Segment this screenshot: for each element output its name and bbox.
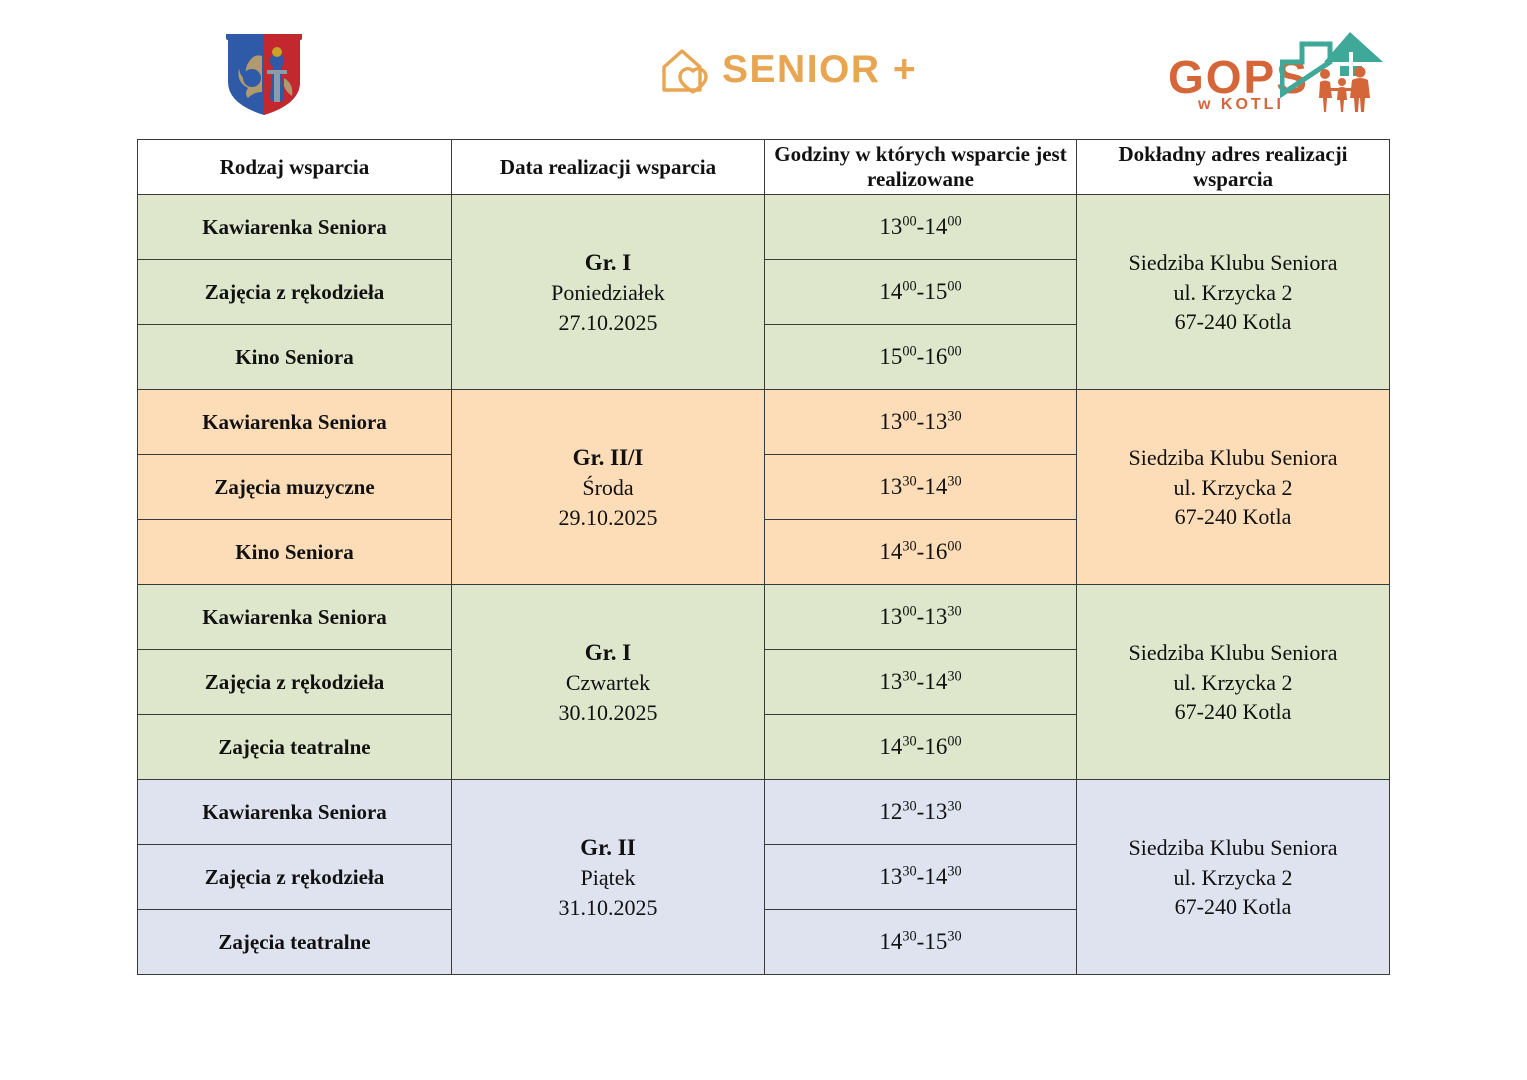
day-label: Środa	[452, 473, 764, 503]
activity-cell: Zajęcia teatralne	[138, 910, 452, 975]
hours-cell: 1330-1430	[765, 845, 1077, 910]
activity-cell: Kawiarenka Seniora	[138, 780, 452, 845]
hours-cell: 1430-1600	[765, 715, 1077, 780]
address-line-3: 67-240 Kotla	[1077, 892, 1389, 922]
senior-plus-label: SENIOR +	[722, 48, 917, 92]
table-row: Kawiarenka Seniora Gr. I Poniedziałek 27…	[138, 195, 1390, 260]
day-label: Piątek	[452, 863, 764, 893]
address-line-2: ul. Krzycka 2	[1077, 278, 1389, 308]
activity-cell: Kawiarenka Seniora	[138, 390, 452, 455]
table-row: Kawiarenka Seniora Gr. I Czwartek 30.10.…	[138, 585, 1390, 650]
column-header-hours: Godziny w których wsparcie jest realizow…	[765, 140, 1077, 195]
hours-cell: 1330-1430	[765, 650, 1077, 715]
house-family-icon	[1280, 24, 1385, 116]
address-line-3: 67-240 Kotla	[1077, 307, 1389, 337]
address-cell: Siedziba Klubu Seniora ul. Krzycka 2 67-…	[1077, 195, 1390, 390]
group-label: Gr. I	[452, 637, 764, 668]
activity-cell: Zajęcia z rękodzieła	[138, 650, 452, 715]
house-heart-icon	[660, 45, 712, 95]
activity-cell: Kawiarenka Seniora	[138, 195, 452, 260]
document-page: SENIOR + GOPS w KOTLI	[0, 0, 1527, 1080]
logo-header: SENIOR + GOPS w KOTLI	[0, 0, 1527, 130]
group-label: Gr. II	[452, 832, 764, 863]
gops-sublabel: w KOTLI	[1198, 96, 1284, 114]
column-header-date: Data realizacji wsparcia	[452, 140, 765, 195]
address-line-1: Siedziba Klubu Seniora	[1077, 248, 1389, 278]
senior-plus-logo: SENIOR +	[660, 44, 917, 96]
activity-cell: Zajęcia z rękodzieła	[138, 260, 452, 325]
date-cell: Gr. II/I Środa 29.10.2025	[452, 390, 765, 585]
hours-cell: 1500-1600	[765, 325, 1077, 390]
table-header-row: Rodzaj wsparcia Data realizacji wsparcia…	[138, 140, 1390, 195]
activity-cell: Zajęcia z rękodzieła	[138, 845, 452, 910]
address-line-3: 67-240 Kotla	[1077, 697, 1389, 727]
hours-cell: 1230-1330	[765, 780, 1077, 845]
day-label: Poniedziałek	[452, 278, 764, 308]
address-cell: Siedziba Klubu Seniora ul. Krzycka 2 67-…	[1077, 390, 1390, 585]
date-cell: Gr. I Czwartek 30.10.2025	[452, 585, 765, 780]
activity-cell: Kawiarenka Seniora	[138, 585, 452, 650]
hours-cell: 1430-1600	[765, 520, 1077, 585]
day-label: Czwartek	[452, 668, 764, 698]
hours-cell: 1300-1330	[765, 585, 1077, 650]
date-label: 29.10.2025	[452, 503, 764, 533]
kotla-coat-of-arms-icon	[222, 30, 306, 118]
address-line-1: Siedziba Klubu Seniora	[1077, 638, 1389, 668]
hours-cell: 1300-1400	[765, 195, 1077, 260]
activity-cell: Zajęcia muzyczne	[138, 455, 452, 520]
table-body: Kawiarenka Seniora Gr. I Poniedziałek 27…	[138, 195, 1390, 975]
address-cell: Siedziba Klubu Seniora ul. Krzycka 2 67-…	[1077, 780, 1390, 975]
activity-cell: Zajęcia teatralne	[138, 715, 452, 780]
support-schedule-table: Rodzaj wsparcia Data realizacji wsparcia…	[137, 139, 1390, 975]
gops-logo: GOPS w KOTLI	[1168, 24, 1383, 116]
hours-cell: 1300-1330	[765, 390, 1077, 455]
group-label: Gr. I	[452, 247, 764, 278]
address-line-1: Siedziba Klubu Seniora	[1077, 443, 1389, 473]
address-line-3: 67-240 Kotla	[1077, 502, 1389, 532]
date-label: 30.10.2025	[452, 698, 764, 728]
hours-cell: 1400-1500	[765, 260, 1077, 325]
date-label: 31.10.2025	[452, 893, 764, 923]
address-cell: Siedziba Klubu Seniora ul. Krzycka 2 67-…	[1077, 585, 1390, 780]
activity-cell: Kino Seniora	[138, 325, 452, 390]
group-label: Gr. II/I	[452, 442, 764, 473]
activity-cell: Kino Seniora	[138, 520, 452, 585]
address-line-2: ul. Krzycka 2	[1077, 863, 1389, 893]
table-row: Kawiarenka Seniora Gr. II Piątek 31.10.2…	[138, 780, 1390, 845]
address-line-1: Siedziba Klubu Seniora	[1077, 833, 1389, 863]
date-cell: Gr. I Poniedziałek 27.10.2025	[452, 195, 765, 390]
table-row: Kawiarenka Seniora Gr. II/I Środa 29.10.…	[138, 390, 1390, 455]
date-cell: Gr. II Piątek 31.10.2025	[452, 780, 765, 975]
hours-cell: 1330-1430	[765, 455, 1077, 520]
hours-cell: 1430-1530	[765, 910, 1077, 975]
address-line-2: ul. Krzycka 2	[1077, 668, 1389, 698]
address-line-2: ul. Krzycka 2	[1077, 473, 1389, 503]
column-header-address: Dokładny adres realizacji wsparcia	[1077, 140, 1390, 195]
column-header-support-type: Rodzaj wsparcia	[138, 140, 452, 195]
date-label: 27.10.2025	[452, 308, 764, 338]
